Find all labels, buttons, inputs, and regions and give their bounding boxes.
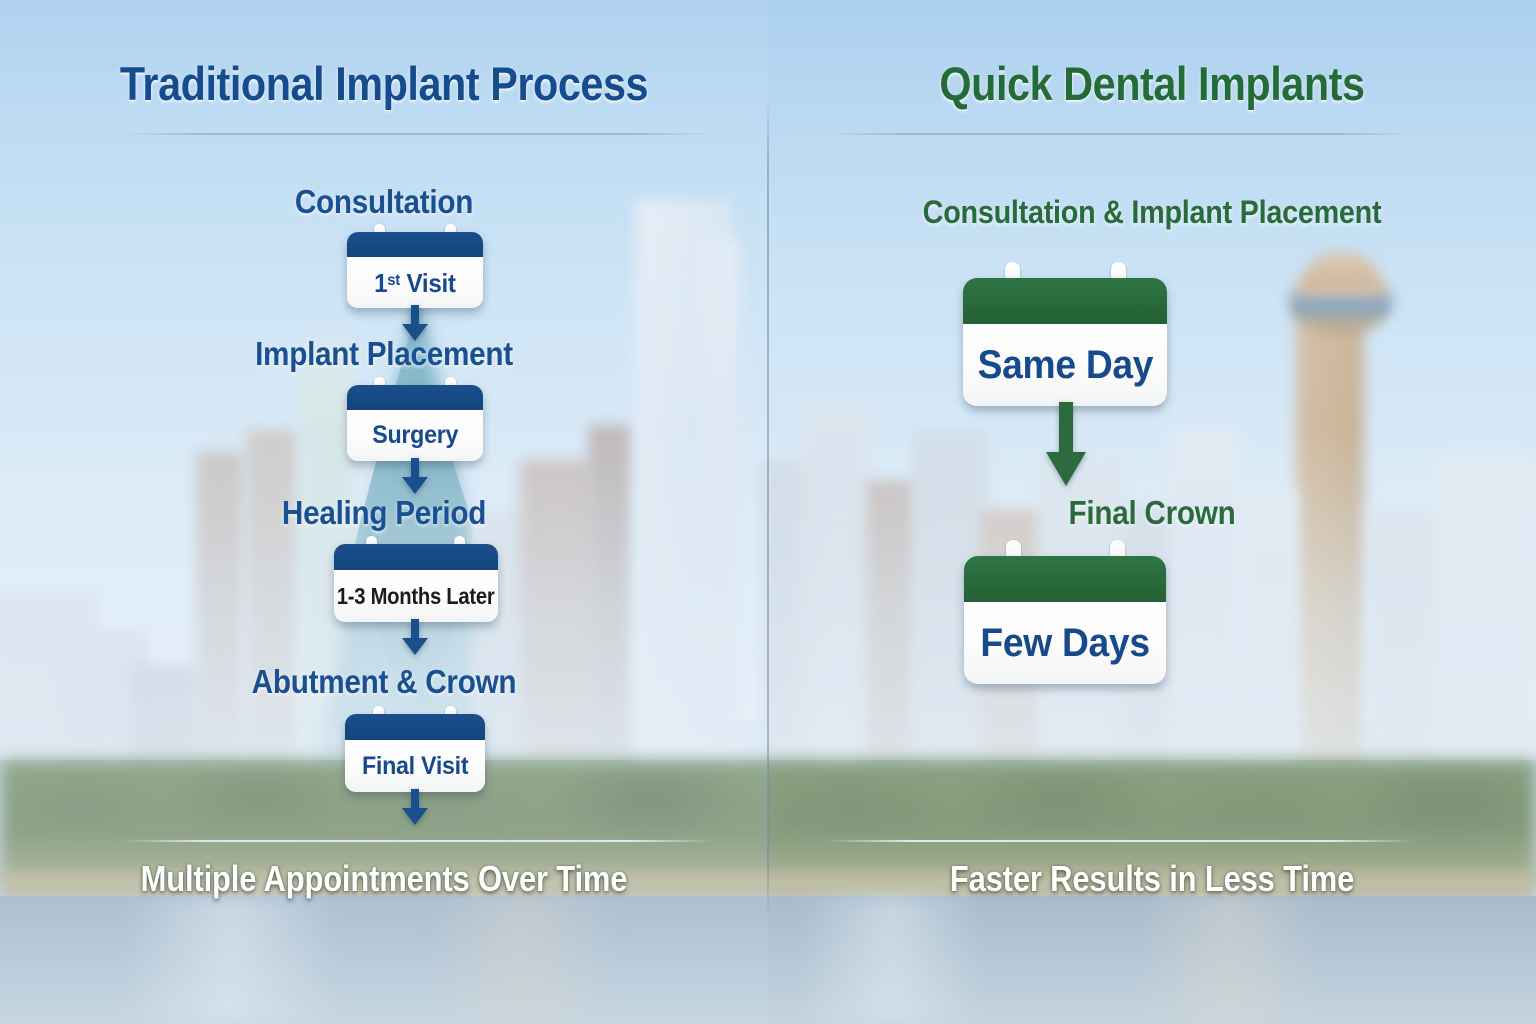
right-card-2: Few Days — [964, 556, 1166, 684]
card-face: 1-3 Months Later — [334, 570, 498, 622]
card-body: Few Days — [964, 556, 1166, 684]
left-arrow-4-icon — [400, 789, 430, 825]
left-step-label-2: Implant Placement — [38, 335, 729, 373]
card-body: 1st Visit — [347, 232, 483, 308]
right-arrow-1-icon — [1044, 402, 1088, 486]
card-header-bar — [347, 232, 483, 257]
left-arrow-2-icon — [400, 458, 430, 494]
left-step-label-3: Healing Period — [38, 494, 729, 532]
left-arrow-3-icon — [400, 619, 430, 655]
right-card-text-2: Few Days — [980, 623, 1149, 663]
card-body: Final Visit — [345, 714, 485, 792]
card-face: Same Day — [963, 324, 1167, 406]
card-face: Surgery — [347, 410, 483, 461]
left-column: Traditional Implant Process Consultation… — [0, 0, 768, 1024]
left-step-label-1: Consultation — [38, 183, 729, 221]
left-card-text-2: Surgery — [372, 423, 458, 448]
left-card-text-3: 1-3 Months Later — [337, 585, 495, 608]
left-card-3: 1-3 Months Later — [334, 544, 498, 622]
right-footer: Faster Results in Less Time — [822, 858, 1482, 900]
left-title: Traditional Implant Process — [46, 56, 722, 111]
left-bottom-rule — [122, 840, 714, 842]
infographic-canvas: Traditional Implant Process Consultation… — [0, 0, 1536, 1024]
right-card-1: Same Day — [963, 278, 1167, 406]
right-top-rule — [824, 133, 1416, 135]
left-step-label-4: Abutment & Crown — [38, 663, 729, 701]
card-body: Same Day — [963, 278, 1167, 406]
left-card-4: Final Visit — [345, 714, 485, 792]
right-title: Quick Dental Implants — [814, 56, 1490, 111]
card-header-bar — [964, 556, 1166, 602]
right-step-label-2: Final Crown — [806, 494, 1497, 532]
card-header-bar — [345, 714, 485, 740]
right-column: Quick Dental Implants Consultation & Imp… — [768, 0, 1536, 1024]
right-step-label-1: Consultation & Implant Placement — [806, 194, 1497, 231]
card-face: Final Visit — [345, 740, 485, 792]
card-face: 1st Visit — [347, 257, 483, 308]
left-card-text-1: 1st Visit — [374, 270, 456, 296]
left-top-rule — [122, 133, 714, 135]
left-card-text-4: Final Visit — [362, 754, 468, 779]
left-card-1: 1st Visit — [347, 232, 483, 308]
left-footer: Multiple Appointments Over Time — [54, 858, 714, 900]
card-header-bar — [963, 278, 1167, 324]
card-body: Surgery — [347, 385, 483, 461]
card-header-bar — [334, 544, 498, 570]
right-card-text-1: Same Day — [977, 345, 1153, 385]
left-card-2: Surgery — [347, 385, 483, 461]
card-face: Few Days — [964, 602, 1166, 684]
card-body: 1-3 Months Later — [334, 544, 498, 622]
card-header-bar — [347, 385, 483, 410]
right-bottom-rule — [824, 840, 1416, 842]
